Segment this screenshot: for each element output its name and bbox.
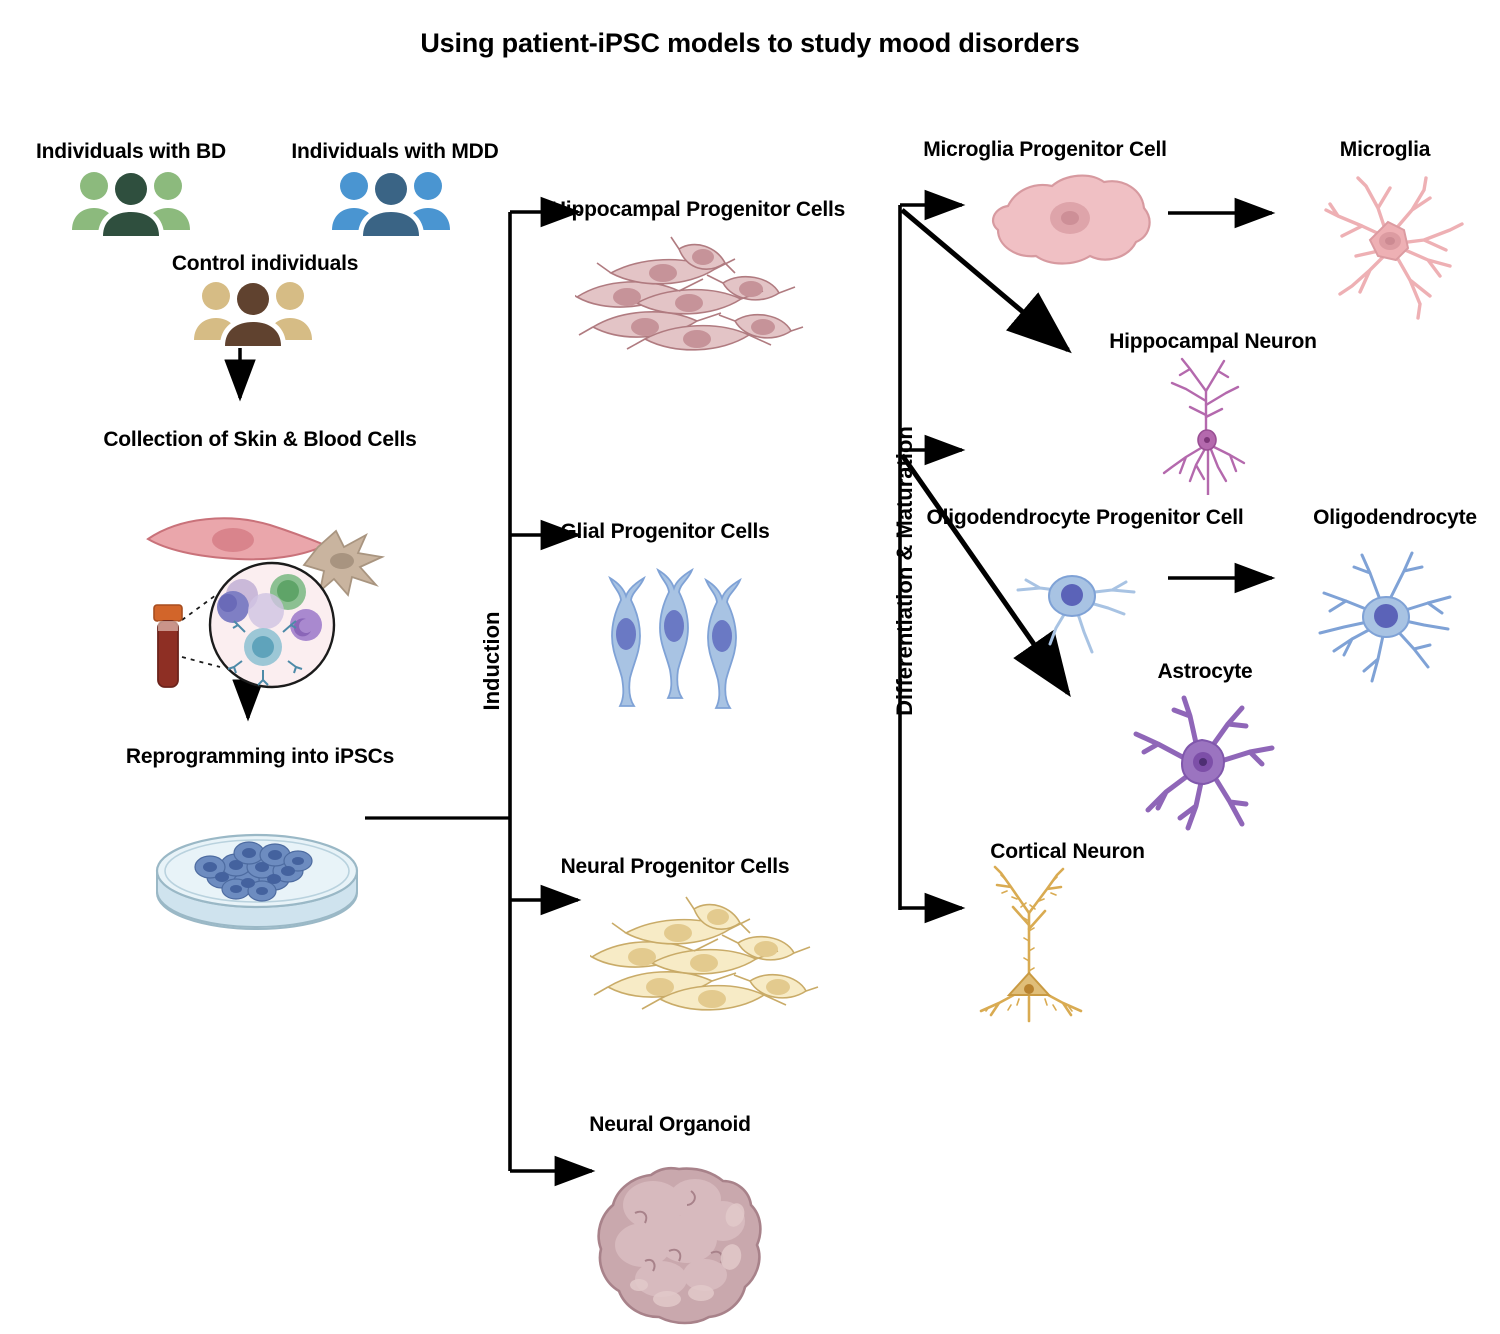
people-group-bd-icon [68, 168, 194, 236]
label-glial-progenitor-cells: Glial Progenitor Cells [520, 520, 810, 544]
astrocyte-illustration [1118, 690, 1283, 835]
cortical-neuron-illustration [965, 865, 1095, 1025]
oligodendrocyte-progenitor-cell-illustration [1000, 550, 1150, 660]
hippocampal-neuron-illustration [1150, 355, 1270, 495]
axis-label-differentiation-maturation: Differentiation & Maturation [892, 411, 918, 731]
label-oligodendrocyte: Oligodendrocyte [1290, 506, 1500, 530]
hippocampal-progenitor-cells-illustration [575, 235, 805, 375]
diagram-canvas: Using patient-iPSC models to study mood … [0, 0, 1500, 1334]
people-group-mdd-icon [328, 168, 454, 236]
page-title: Using patient-iPSC models to study mood … [0, 28, 1500, 59]
oligodendrocyte-illustration [1300, 545, 1470, 690]
label-hippocampal-neuron: Hippocampal Neuron [1088, 330, 1338, 354]
label-microglia-progenitor-cell: Microglia Progenitor Cell [880, 138, 1210, 162]
label-individuals-mdd: Individuals with MDD [265, 140, 525, 164]
label-reprogramming-ipscs: Reprogramming into iPSCs [85, 745, 435, 769]
axis-label-induction: Induction [479, 601, 505, 721]
label-hippocampal-progenitor-cells: Hippocampal Progenitor Cells [508, 198, 888, 222]
skin-blood-cells-illustration [120, 495, 430, 695]
label-neural-progenitor-cells: Neural Progenitor Cells [520, 855, 830, 879]
label-individuals-bd: Individuals with BD [0, 140, 262, 164]
label-collection-skin-blood: Collection of Skin & Blood Cells [95, 428, 425, 452]
microglia-illustration [1300, 168, 1475, 333]
label-cortical-neuron: Cortical Neuron [955, 840, 1180, 864]
neural-organoid-illustration [595, 1165, 765, 1325]
label-oligodendrocyte-progenitor-cell: Oligodendrocyte Progenitor Cell [920, 506, 1250, 530]
label-control-individuals: Control individuals [120, 252, 410, 276]
petri-dish-ipsc-illustration [150, 795, 365, 935]
people-group-control-icon [190, 278, 316, 346]
glial-progenitor-cells-illustration [598, 560, 768, 715]
label-astrocyte: Astrocyte [1105, 660, 1305, 684]
microglia-progenitor-cell-illustration [978, 170, 1158, 270]
neural-progenitor-cells-illustration [590, 895, 820, 1035]
label-microglia: Microglia [1285, 138, 1485, 162]
label-neural-organoid: Neural Organoid [540, 1113, 800, 1137]
